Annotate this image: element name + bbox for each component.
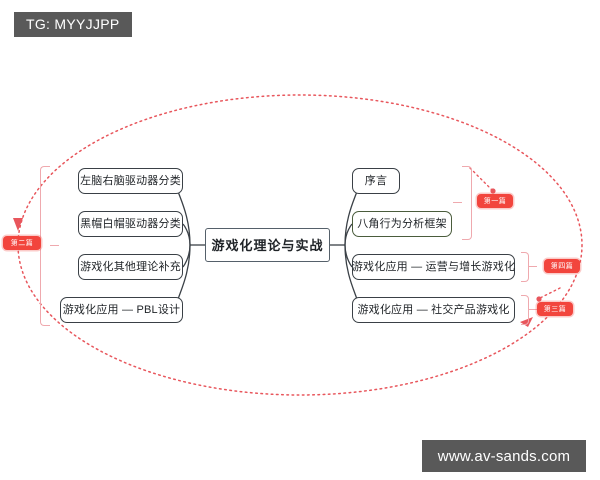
right-node-4-label: 游戏化应用 — 社交产品游戏化 [357,305,509,316]
left-node-4-label: 游戏化应用 — PBL设计 [63,305,181,316]
badge-part-3[interactable]: 第三篇 [537,302,573,316]
right-node-4[interactable]: 游戏化应用 — 社交产品游戏化 [352,297,515,323]
center-node[interactable]: 游戏化理论与实战 [205,228,330,262]
left-node-2-label: 黑帽白帽驱动器分类 [80,219,181,230]
badge-part-4[interactable]: 第四篇 [544,259,580,273]
leader-line-bracket1 [470,168,496,194]
bracket-right-group-2 [521,252,529,282]
left-node-2[interactable]: 黑帽白帽驱动器分类 [78,211,183,237]
watermark-tag: www.av-sands.com [422,440,586,472]
left-connectors [176,181,205,310]
badge-part-4-label: 第四篇 [551,261,574,271]
watermark-label: www.av-sands.com [438,448,570,465]
right-connectors [330,181,359,310]
left-node-3[interactable]: 游戏化其他理论补充 [78,254,183,280]
telegram-tag-label: TG: MYYJJPP [26,16,120,32]
center-node-label: 游戏化理论与实战 [211,239,323,252]
bracket-right-tick-1 [453,202,462,203]
right-node-1-label: 序言 [365,176,387,187]
bracket-right-tick-3 [529,309,537,310]
right-node-2[interactable]: 八角行为分析框架 [352,211,452,237]
left-node-3-label: 游戏化其他理论补充 [80,262,181,273]
right-node-3[interactable]: 游戏化应用 — 运营与增长游戏化 [352,254,515,280]
badge-part-2[interactable]: 第二篇 [3,236,41,250]
bracket-left-tick [50,245,59,246]
right-node-2-label: 八角行为分析框架 [357,219,447,230]
telegram-tag: TG: MYYJJPP [14,12,132,37]
badge-part-1[interactable]: 第一篇 [477,194,513,208]
right-node-1[interactable]: 序言 [352,168,400,194]
left-node-1-label: 左脑右脑驱动器分类 [80,176,181,187]
badge-part-1-label: 第一篇 [484,196,507,206]
bracket-left-group [40,166,50,326]
right-node-3-label: 游戏化应用 — 运营与增长游戏化 [352,262,515,273]
bracket-right-group-1 [462,166,472,240]
badge-part-2-label: 第二篇 [11,238,34,248]
bracket-right-tick-2 [529,266,537,267]
badge-part-3-label: 第三篇 [544,304,567,314]
bracket-right-group-3 [521,295,529,325]
ellipse-arrowhead [13,218,23,231]
left-node-4[interactable]: 游戏化应用 — PBL设计 [60,297,183,323]
left-node-1[interactable]: 左脑右脑驱动器分类 [78,168,183,194]
